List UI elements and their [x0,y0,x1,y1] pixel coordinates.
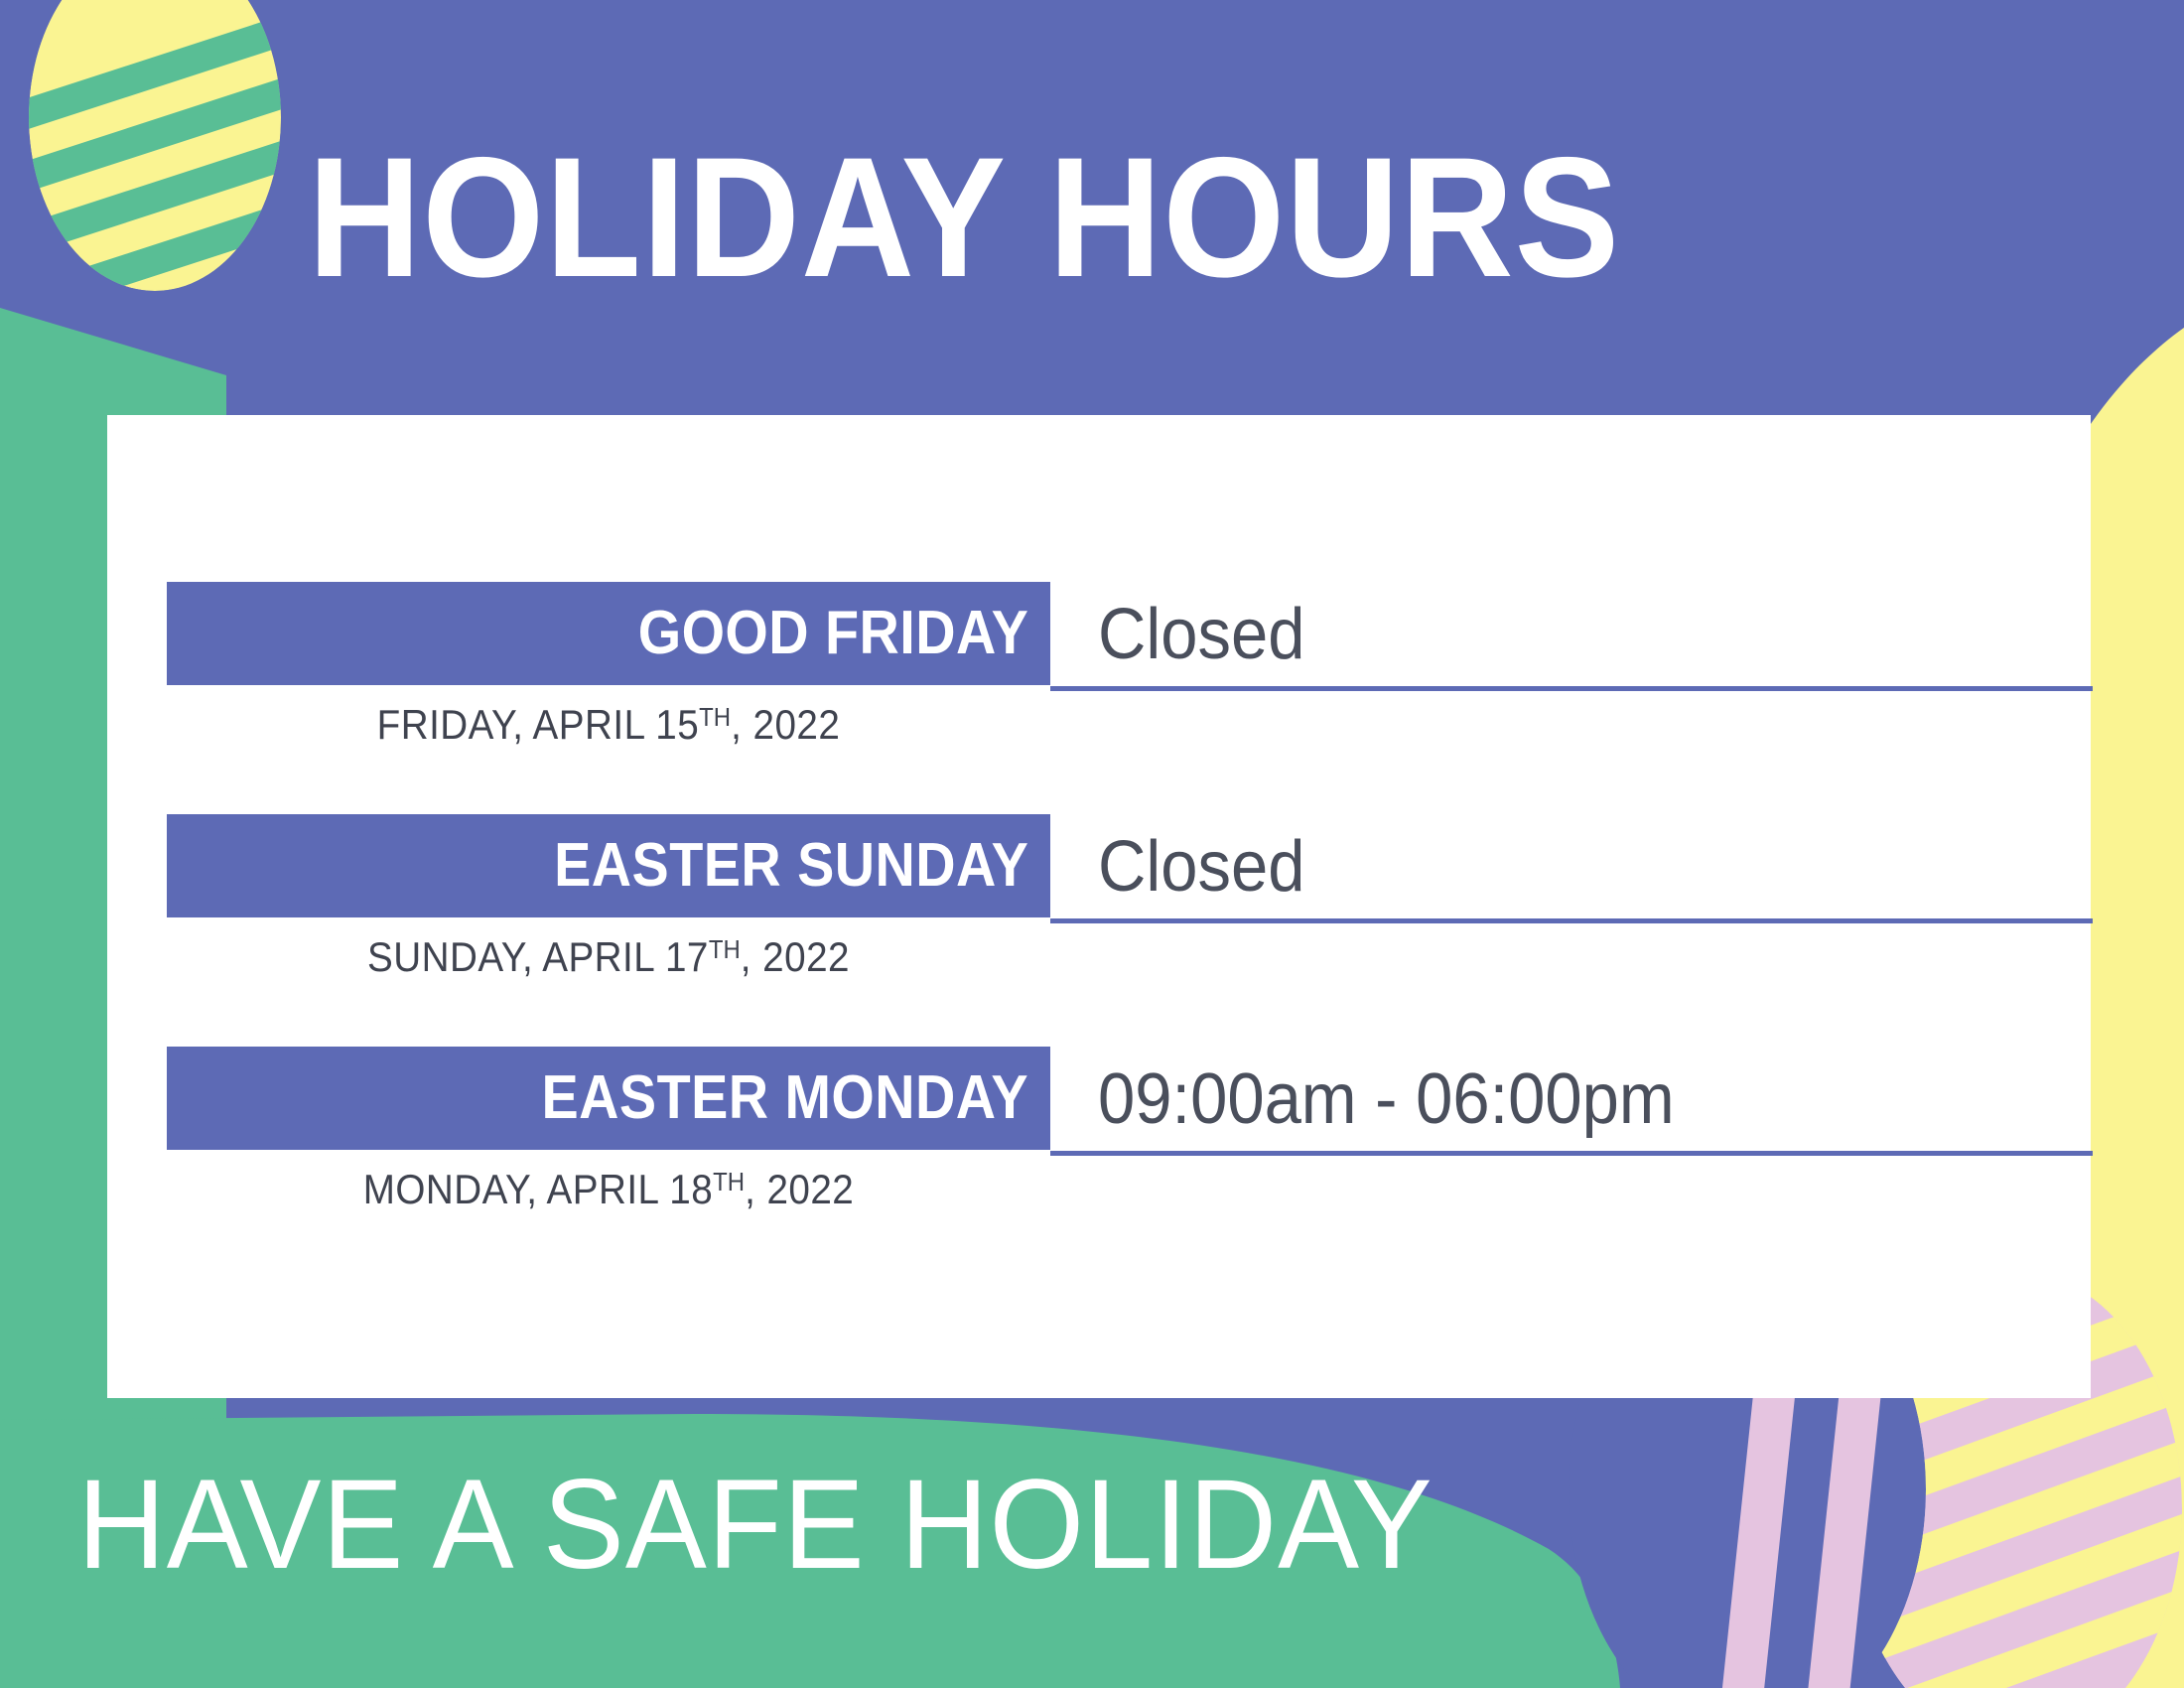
schedule-row: EASTER SUNDAY Closed SUNDAY, APRIL 17TH,… [167,814,2093,917]
hours-value: Closed [1098,829,1304,905]
hours-value-area: Closed [1050,814,2093,923]
holiday-label-bar: EASTER MONDAY [167,1047,1050,1150]
holiday-date-suffix: , 2022 [745,1166,854,1212]
holiday-date-prefix: FRIDAY, APRIL 15 [377,701,700,748]
holiday-label: GOOD FRIDAY [637,602,1028,665]
holiday-date: MONDAY, APRIL 18TH, 2022 [203,1158,1016,1213]
schedule-row: GOOD FRIDAY Closed FRIDAY, APRIL 15TH, 2… [167,582,2093,685]
holiday-date-prefix: MONDAY, APRIL 18 [363,1166,713,1212]
holiday-date-ordinal: TH [699,702,731,732]
holiday-label-bar: EASTER SUNDAY [167,814,1050,917]
holiday-label-bar: GOOD FRIDAY [167,582,1050,685]
schedule-row: EASTER MONDAY 09:00am - 06:00pm MONDAY, … [167,1047,2093,1150]
schedule-row-main: GOOD FRIDAY Closed [167,582,2093,685]
holiday-label: EASTER SUNDAY [554,834,1028,898]
footer-message: HAVE A SAFE HOLIDAY [77,1458,1433,1593]
holiday-label: EASTER MONDAY [541,1066,1028,1130]
holiday-date-prefix: SUNDAY, APRIL 17 [367,933,709,980]
holiday-date-ordinal: TH [709,934,741,964]
hours-value: 09:00am - 06:00pm [1098,1061,1675,1137]
holiday-date: FRIDAY, APRIL 15TH, 2022 [203,693,1016,749]
holiday-hours-poster: HOLIDAY HOURS GOOD FRIDAY Closed FRIDAY,… [0,0,2184,1688]
hours-value-area: Closed [1050,582,2093,691]
holiday-date: SUNDAY, APRIL 17TH, 2022 [203,925,1016,981]
holiday-date-suffix: , 2022 [731,701,840,748]
hours-value: Closed [1098,597,1304,672]
holiday-date-ordinal: TH [713,1167,745,1196]
schedule-row-main: EASTER SUNDAY Closed [167,814,2093,917]
holiday-date-suffix: , 2022 [741,933,850,980]
schedule-list: GOOD FRIDAY Closed FRIDAY, APRIL 15TH, 2… [0,0,2184,1688]
schedule-row-main: EASTER MONDAY 09:00am - 06:00pm [167,1047,2093,1150]
hours-value-area: 09:00am - 06:00pm [1050,1047,2093,1156]
